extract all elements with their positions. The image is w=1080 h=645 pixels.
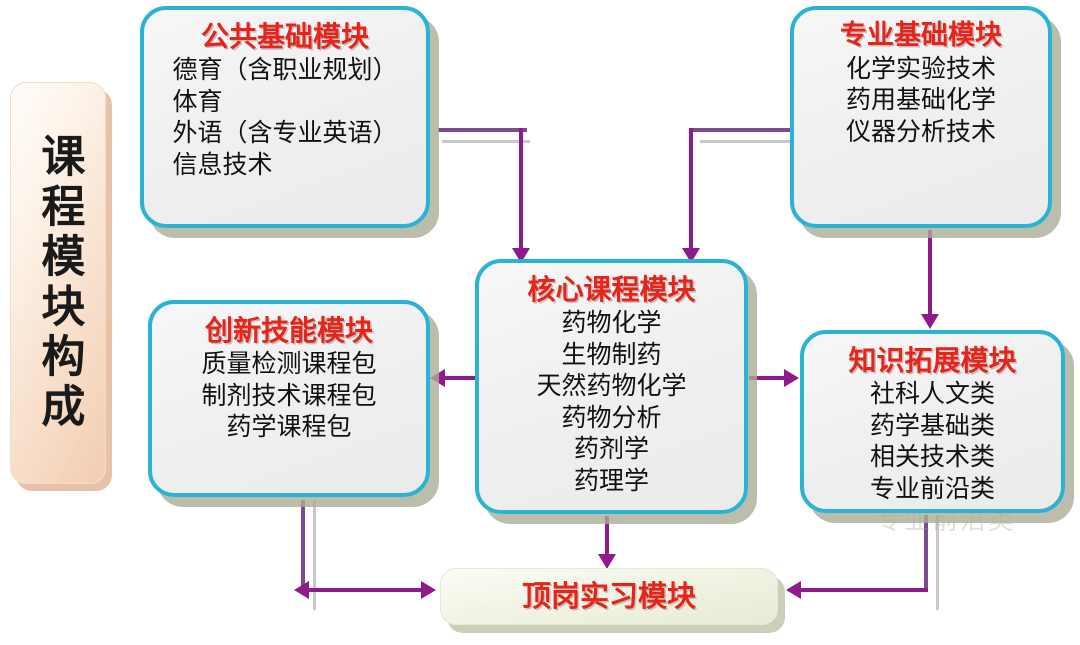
module-card-public-foundation[interactable]: 公共基础模块 德育（含职业规划） 体育 外语（含专业英语） 信息技术 xyxy=(140,6,430,228)
module-card-innovation-skill[interactable]: 创新技能模块 质量检测课程包 制剂技术课程包 药学课程包 xyxy=(148,300,430,497)
module-title: 专业基础模块 xyxy=(840,20,1002,53)
module-card-internship[interactable]: 顶岗实习模块 xyxy=(440,568,778,625)
module-item-list: 德育（含职业规划） 体育 外语（含专业英语） 信息技术 xyxy=(172,54,397,180)
diagram-canvas: 课程模块构成 xyxy=(0,0,1080,645)
module-item: 药物分析 xyxy=(561,402,661,434)
module-item: 生物制药 xyxy=(561,339,661,371)
module-item: 德育（含职业规划） xyxy=(172,54,397,86)
connector-segment-horizontal xyxy=(749,376,786,380)
module-item: 药学基础类 xyxy=(870,410,995,442)
module-item-list: 社科人文类 药学基础类 相关技术类 专业前沿类 xyxy=(870,378,995,504)
side-title-label: 课程模块构成 xyxy=(35,133,82,433)
connector-segment-horizontal xyxy=(444,376,476,380)
module-item: 仪器分析技术 xyxy=(846,116,996,148)
connector-shadow xyxy=(442,140,530,143)
module-item: 信息技术 xyxy=(172,149,272,181)
module-item: 专业前沿类 xyxy=(870,473,995,505)
module-item-list: 药物化学 生物制药 天然药物化学 药物分析 药剂学 药理学 xyxy=(536,307,686,496)
module-title: 公共基础模块 xyxy=(201,20,369,54)
connector-segment-vertical xyxy=(689,128,693,253)
module-title: 顶岗实习模块 xyxy=(522,579,696,614)
module-title: 核心课程模块 xyxy=(527,273,695,307)
module-item: 相关技术类 xyxy=(870,441,995,473)
module-card-knowledge-extension[interactable]: 知识拓展模块 社科人文类 药学基础类 相关技术类 专业前沿类 xyxy=(800,330,1065,513)
connector-segment-vertical xyxy=(519,128,523,253)
module-item: 药剂学 xyxy=(574,433,649,465)
side-title-plaque: 课程模块构成 xyxy=(10,82,106,484)
module-item: 天然药物化学 xyxy=(536,370,686,402)
connector-segment-horizontal xyxy=(438,128,527,132)
module-item: 体育 xyxy=(172,86,222,118)
arrow-left-icon xyxy=(786,581,801,599)
arrow-right-icon xyxy=(784,369,799,387)
module-item: 质量检测课程包 xyxy=(201,348,376,380)
module-item: 药理学 xyxy=(574,465,649,497)
module-item: 外语（含专业英语） xyxy=(172,117,397,149)
arrow-down-icon xyxy=(921,314,939,329)
module-item: 药用基础化学 xyxy=(846,84,996,116)
connector-segment-horizontal xyxy=(800,588,928,592)
connector-segment-vertical xyxy=(605,516,609,558)
module-item: 药物化学 xyxy=(561,307,661,339)
connector-shadow xyxy=(313,500,316,610)
module-item: 药学课程包 xyxy=(226,411,351,443)
connector-segment-vertical xyxy=(928,230,932,318)
arrow-left-icon xyxy=(294,581,309,599)
arrow-down-icon xyxy=(598,554,616,569)
connector-segment-horizontal xyxy=(689,128,792,132)
module-item-list: 质量检测课程包 制剂技术课程包 药学课程包 xyxy=(201,348,376,443)
arrow-left-icon xyxy=(430,369,445,387)
connector-segment-horizontal xyxy=(301,588,423,592)
module-title: 知识拓展模块 xyxy=(848,344,1016,378)
module-item: 社科人文类 xyxy=(870,378,995,410)
module-item-list: 化学实验技术 药用基础化学 仪器分析技术 xyxy=(846,53,996,148)
module-card-core-course[interactable]: 核心课程模块 药物化学 生物制药 天然药物化学 药物分析 药剂学 药理学 xyxy=(475,259,748,514)
connector-segment-vertical xyxy=(301,500,305,590)
connector-shadow xyxy=(700,140,792,143)
module-item: 化学实验技术 xyxy=(846,53,996,85)
module-title: 创新技能模块 xyxy=(205,314,373,348)
module-card-major-foundation[interactable]: 专业基础模块 化学实验技术 药用基础化学 仪器分析技术 xyxy=(790,6,1052,228)
arrow-right-icon xyxy=(421,581,436,599)
module-item: 制剂技术课程包 xyxy=(201,380,376,412)
